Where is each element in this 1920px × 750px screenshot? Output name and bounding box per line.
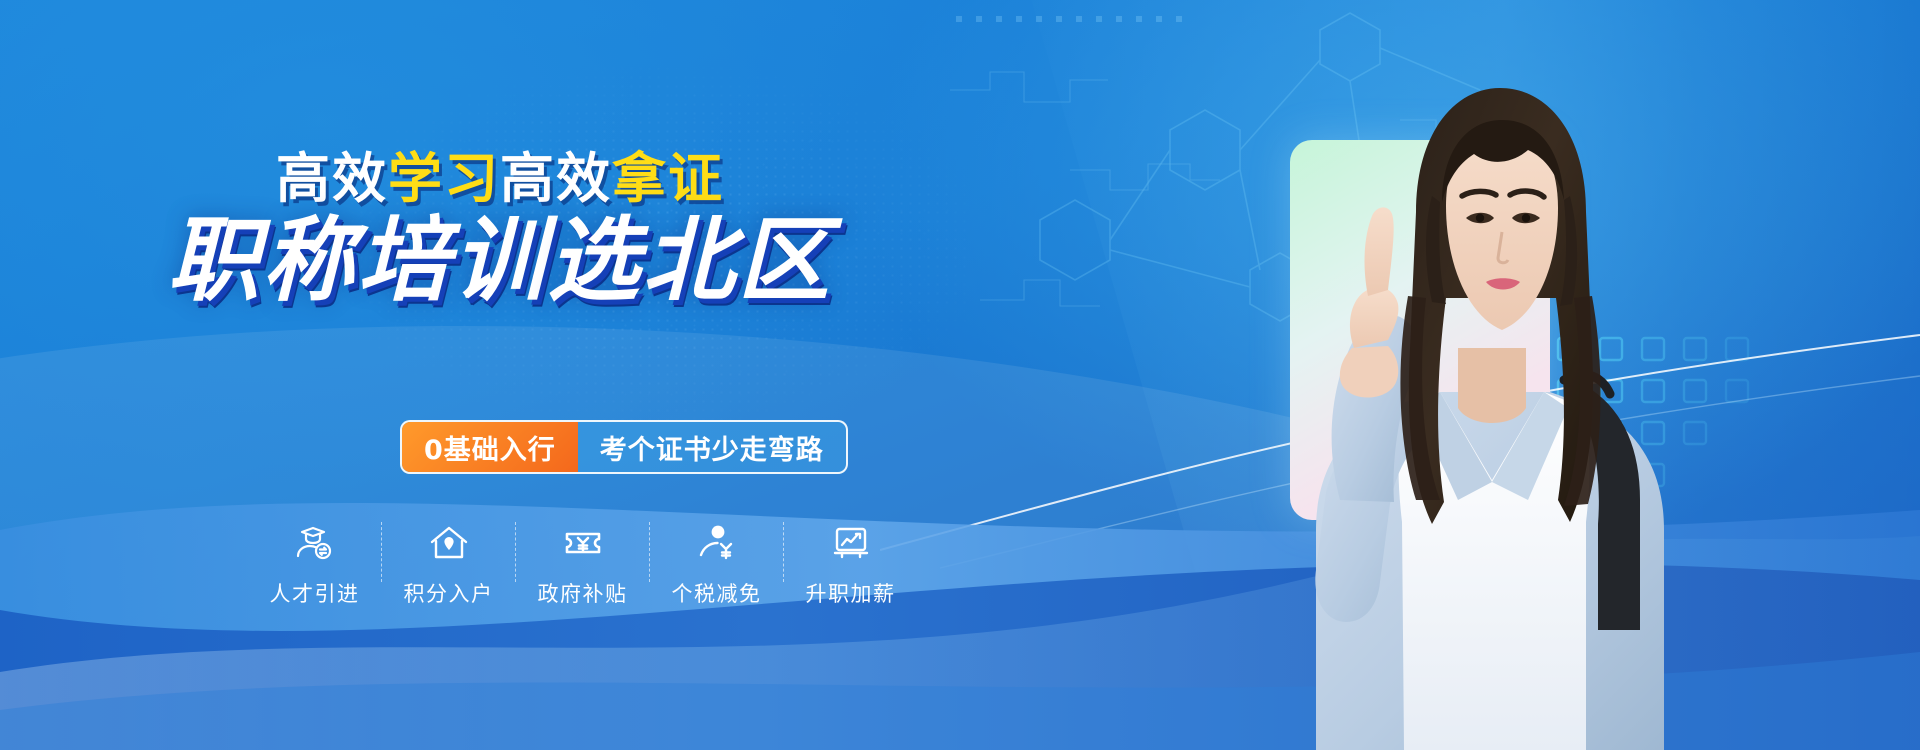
- feature-label: 政府补贴: [538, 578, 628, 608]
- headline-segment-2: 学习: [388, 147, 500, 210]
- headline-segment-3: 高效: [500, 147, 612, 210]
- feature-item-points-residency[interactable]: 积分入户: [382, 520, 515, 608]
- graduate-person-icon: [294, 520, 336, 566]
- hero-image-area: [1140, 0, 1780, 750]
- headline-segment-4: 拿证: [612, 147, 724, 210]
- person-yuan-icon: [696, 520, 738, 566]
- headline-segment-1: 高效: [276, 147, 388, 210]
- house-pin-icon: [428, 520, 470, 566]
- page-title: 职称培训选北区: [0, 215, 1000, 307]
- feature-item-promotion-raise[interactable]: 升职加薪: [784, 520, 917, 608]
- feature-item-talent-introduction[interactable]: 人才引进: [248, 520, 381, 608]
- feature-label: 人才引进: [270, 578, 360, 608]
- feature-label: 个税减免: [672, 578, 762, 608]
- tagline-text: 考个证书少走弯路: [578, 422, 846, 472]
- feature-label: 积分入户: [404, 578, 494, 608]
- title-highlight: 选: [547, 207, 642, 314]
- headline: 高效学习高效拿证: [0, 152, 1000, 206]
- tagline-badge-label: 0基础入行: [402, 422, 578, 472]
- feature-list: 人才引进 积分入户: [248, 520, 917, 608]
- feature-item-tax-reduction[interactable]: 个税减免: [650, 520, 783, 608]
- title-part-2: 北区: [643, 207, 833, 314]
- banner-content: 高效学习高效拿证 职称培训选北区 0基础入行 考个证书少走弯路: [0, 0, 1060, 750]
- woman-pointing-up-photo: [1140, 30, 1780, 750]
- feature-label: 升职加薪: [806, 578, 896, 608]
- feature-item-government-subsidy[interactable]: 政府补贴: [516, 520, 649, 608]
- ticket-yuan-icon: [562, 520, 604, 566]
- tagline-badge[interactable]: 0基础入行 考个证书少走弯路: [400, 420, 848, 474]
- title-part-1: 职称培训: [167, 207, 547, 314]
- promo-banner: 高效学习高效拿证 职称培训选北区 0基础入行 考个证书少走弯路: [0, 0, 1920, 750]
- chart-board-icon: [830, 520, 872, 566]
